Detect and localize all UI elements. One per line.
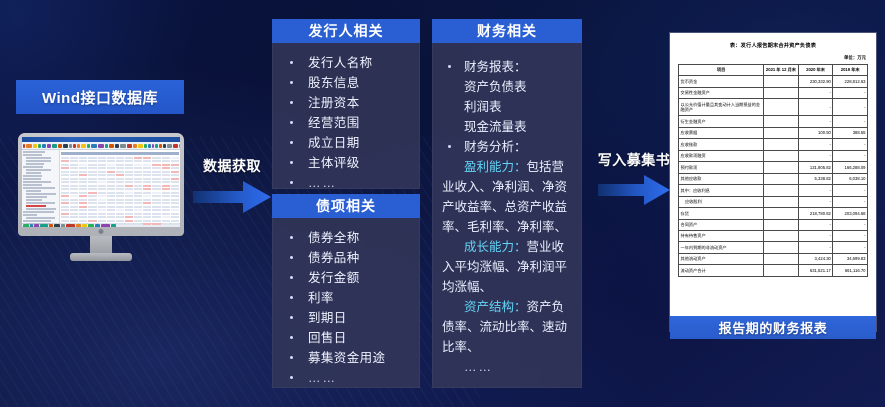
table-cell-value: 388.55	[833, 127, 868, 138]
grid-cell	[79, 181, 87, 183]
arrow-data-fetch: 数据获取	[186, 156, 278, 214]
table-cell-label: 以公允价值计量且其变动计入当期损益的金融资产	[679, 99, 764, 116]
grid-cell	[98, 216, 106, 218]
grid-cell	[152, 199, 160, 201]
table-cell-value	[764, 265, 799, 276]
table-cell-value	[764, 185, 799, 196]
statusbar-chip	[76, 224, 81, 227]
tree-row	[23, 154, 42, 156]
grid-cell	[134, 206, 142, 208]
grid-row	[61, 185, 179, 187]
grid-cell	[152, 174, 160, 176]
statusbar-chip	[34, 224, 39, 227]
table-cell-label: 一年内到期的非流动资产	[679, 242, 764, 253]
grid-cell	[162, 216, 170, 218]
grid-cell	[152, 157, 160, 159]
tree-row	[26, 172, 41, 174]
statusbar-chip	[88, 224, 94, 227]
ribbon-chip	[69, 144, 72, 148]
grid-cell	[98, 199, 106, 201]
table-cell-label: 应收账款	[679, 139, 764, 150]
ribbon-chip	[33, 144, 37, 148]
grid-cell	[134, 188, 142, 190]
grid-cell	[134, 174, 142, 176]
grid-cell	[70, 202, 78, 204]
tree-row	[23, 178, 41, 180]
ribbon-chip	[81, 144, 86, 148]
issuer-item: 注册资本	[278, 93, 414, 113]
table-cell-value	[764, 173, 799, 184]
tree-row	[26, 217, 55, 219]
grid-cell	[143, 206, 151, 208]
grid-cell	[70, 209, 78, 211]
grid-cell	[79, 178, 87, 180]
grid-cell	[125, 216, 133, 218]
grid-row	[61, 206, 179, 208]
table-cell-value: 631,521.17	[798, 265, 833, 276]
grid-cell	[79, 160, 87, 162]
grid-cell	[162, 192, 170, 194]
table-cell-value: 34,699.83	[833, 253, 868, 264]
grid-cell	[125, 188, 133, 190]
grid-cell	[98, 202, 106, 204]
grid-cell	[125, 202, 133, 204]
issuer-item: 经营范围	[278, 113, 414, 133]
table-column-header: 2019 年末	[833, 65, 868, 76]
grid-cell	[70, 206, 78, 208]
tree-row	[26, 160, 51, 162]
ribbon-chip	[105, 144, 108, 148]
panel-bond: 债项相关 债券全称债券品种发行金额利率到期日回售日募集资金用途……	[272, 194, 420, 388]
table-cell-value: 6,038.10	[833, 173, 868, 184]
table-cell-value: -	[798, 231, 833, 242]
document-title: 表：发行人报告期末合并资产负债表	[678, 42, 868, 49]
grid-cell	[70, 171, 78, 173]
grid-cell	[171, 199, 179, 201]
ribbon-chip	[38, 144, 41, 148]
grid-cell	[152, 185, 160, 187]
grid-cell	[152, 171, 160, 173]
ribbon-chip	[87, 144, 90, 148]
issuer-item: 发行人名称	[278, 53, 414, 73]
table-cell-value: -	[798, 196, 833, 207]
finance-statements-label: 财务报表：	[438, 57, 576, 77]
spreadsheet-grid	[60, 150, 180, 223]
grid-cell	[162, 195, 170, 197]
grid-cell	[125, 220, 133, 222]
table-row: 应收账款--	[679, 139, 868, 150]
table-cell-value: -	[798, 116, 833, 127]
grid-cell	[152, 227, 160, 228]
grid-cell	[143, 160, 151, 162]
balance-sheet-table: 项目2021 年 12 月末2020 年末2019 年末 货币资金230,332…	[678, 64, 868, 277]
grid-cell	[98, 220, 106, 222]
grid-cell	[134, 181, 142, 183]
statusbar-chip	[61, 224, 65, 227]
tree-row	[26, 205, 46, 207]
grid-cell	[162, 178, 170, 180]
grid-cell	[61, 171, 69, 173]
grid-cell	[134, 209, 142, 211]
grid-cell	[98, 209, 106, 211]
grid-cell	[107, 164, 115, 166]
grid-row	[61, 181, 179, 183]
finance-analysis-label: 财务分析：	[438, 137, 576, 157]
tree-row	[23, 187, 55, 189]
grid-cell	[79, 195, 87, 197]
bond-item: 到期日	[278, 308, 414, 328]
ribbon-chip	[77, 144, 80, 148]
grid-cell	[70, 160, 78, 162]
ribbon-chip	[26, 144, 32, 148]
panel-issuer: 发行人相关 发行人名称股东信息注册资本经营范围成立日期主体评级……	[272, 19, 420, 189]
grid-cell	[79, 199, 87, 201]
grid-cell	[88, 220, 96, 222]
table-cell-value	[764, 76, 799, 87]
table-cell-value: -	[798, 139, 833, 150]
slide-canvas: Wind接口数据库 数据获取	[0, 0, 885, 407]
table-cell-value: -	[833, 87, 868, 98]
grid-cell	[162, 171, 170, 173]
grid-cell	[61, 195, 69, 197]
grid-cell	[143, 164, 151, 166]
table-row: 衍生金融资产--	[679, 116, 868, 127]
grid-cell	[143, 216, 151, 218]
table-row: 货币资金230,332.90228,812.63	[679, 76, 868, 87]
grid-cell	[88, 213, 96, 215]
grid-cell	[107, 167, 115, 169]
statusbar-chip	[40, 224, 48, 227]
grid-cell	[152, 164, 160, 166]
grid-cell	[61, 202, 69, 204]
grid-cell	[107, 181, 115, 183]
grid-cell	[88, 188, 96, 190]
table-column-header: 2020 年末	[798, 65, 833, 76]
grid-cell	[116, 160, 124, 162]
grid-cell	[79, 188, 87, 190]
table-row: 存货218,780.82203,094.68	[679, 208, 868, 219]
statusbar-chip	[30, 224, 33, 227]
monitor-bezel	[18, 133, 184, 236]
table-row: 应收股利--	[679, 196, 868, 207]
table-column-header: 2021 年 12 月末	[764, 65, 799, 76]
issuer-item-list: 发行人名称股东信息注册资本经营范围成立日期主体评级……	[278, 53, 414, 193]
table-cell-value	[764, 116, 799, 127]
grid-row	[61, 171, 179, 173]
grid-cell	[143, 171, 151, 173]
grid-cell	[107, 192, 115, 194]
grid-cell	[171, 227, 179, 228]
finance-analysis-item: 成长能力：营业收入平均涨幅、净利润平均涨幅、	[438, 237, 576, 297]
table-cell-label: 货币资金	[679, 76, 764, 87]
arrow-data-fetch-label: 数据获取	[186, 156, 278, 176]
ribbon-chip	[167, 144, 172, 148]
grid-cell	[116, 227, 124, 228]
grid-cell	[171, 188, 179, 190]
grid-header	[61, 152, 179, 155]
table-column-header: 项目	[679, 65, 764, 76]
finance-statement-item: 现金流量表	[438, 117, 576, 137]
panel-bond-body: 债券全称债券品种发行金额利率到期日回售日募集资金用途……	[272, 218, 420, 396]
tree-row	[23, 175, 42, 177]
table-row: 应收票据100.50388.55	[679, 127, 868, 138]
grid-cell	[88, 164, 96, 166]
grid-cell	[143, 220, 151, 222]
balance-sheet-document: 表：发行人报告期末合并资产负债表 单位：万元 项目2021 年 12 月末202…	[670, 33, 876, 331]
ribbon-chip	[152, 144, 154, 148]
grid-cell	[162, 167, 170, 169]
grid-cell	[125, 178, 133, 180]
grid-cell	[98, 178, 106, 180]
grid-cell	[143, 192, 151, 194]
finance-analysis-key: 资产结构：	[464, 300, 527, 314]
grid-cell	[125, 174, 133, 176]
grid-row	[61, 192, 179, 194]
tree-row	[26, 208, 56, 210]
grid-cell	[116, 185, 124, 187]
grid-cell	[61, 199, 69, 201]
grid-cell	[134, 213, 142, 215]
table-cell-value: 661,116.70	[833, 265, 868, 276]
ribbon-chip	[179, 144, 180, 148]
issuer-item: ……	[278, 173, 414, 193]
table-cell-value: -	[833, 196, 868, 207]
grid-cell	[88, 209, 96, 211]
grid-cell	[171, 174, 179, 176]
grid-cell	[116, 157, 124, 159]
table-row: 持有待售资产--	[679, 231, 868, 242]
grid-cell	[107, 195, 115, 197]
monitor-screen	[22, 137, 180, 227]
grid-row	[61, 220, 179, 222]
monitor-base	[70, 253, 132, 261]
finance-analysis-item: 资产结构：资产负债率、流动比率、速动比率、	[438, 297, 576, 357]
ribbon-chip	[127, 144, 132, 148]
table-cell-value: 166,288.09	[833, 162, 868, 173]
grid-cell	[171, 202, 179, 204]
grid-row	[61, 157, 179, 159]
grid-cell	[79, 192, 87, 194]
grid-cell	[152, 178, 160, 180]
grid-cell	[143, 167, 151, 169]
grid-cell	[88, 195, 96, 197]
grid-cell	[125, 213, 133, 215]
table-cell-value: -	[833, 219, 868, 230]
document-caption: 报告期的财务报表	[670, 316, 876, 339]
grid-cell	[107, 160, 115, 162]
grid-cell	[143, 209, 151, 211]
grid-cell	[116, 195, 124, 197]
grid-cell	[134, 164, 142, 166]
bond-item: 回售日	[278, 328, 414, 348]
grid-cell	[70, 216, 78, 218]
table-cell-value	[764, 99, 799, 116]
panel-issuer-body: 发行人名称股东信息注册资本经营范围成立日期主体评级……	[272, 43, 420, 201]
grid-cell	[88, 206, 96, 208]
grid-cell	[152, 206, 160, 208]
grid-cell	[107, 174, 115, 176]
statusbar-chip	[23, 224, 29, 227]
arrow-write-prospectus-label: 写入募集书	[592, 150, 676, 170]
table-cell-value: -	[798, 242, 833, 253]
grid-cell	[98, 157, 106, 159]
grid-cell	[70, 199, 78, 201]
ribbon-chip	[173, 144, 178, 148]
grid-cell	[171, 181, 179, 183]
grid-cell	[125, 199, 133, 201]
table-cell-value	[764, 208, 799, 219]
grid-cell	[143, 157, 151, 159]
grid-cell	[70, 178, 78, 180]
grid-cell	[152, 167, 160, 169]
grid-cell	[152, 223, 160, 225]
grid-cell	[79, 171, 87, 173]
grid-cell	[107, 157, 115, 159]
grid-row	[61, 216, 179, 218]
ribbon-chip	[144, 144, 147, 148]
table-cell-label: 应收款项融资	[679, 150, 764, 161]
tree-row	[26, 169, 51, 171]
grid-cell	[61, 216, 69, 218]
statusbar-chip	[82, 224, 87, 227]
grid-cell	[79, 202, 87, 204]
grid-cell	[88, 216, 96, 218]
table-cell-value: -	[833, 242, 868, 253]
grid-cell	[116, 164, 124, 166]
table-cell-value	[764, 253, 799, 264]
grid-cell	[70, 192, 78, 194]
ribbon-chip	[98, 144, 104, 148]
grid-cell	[152, 220, 160, 222]
grid-cell	[143, 178, 151, 180]
grid-cell	[152, 195, 160, 197]
table-cell-value	[764, 127, 799, 138]
grid-cell	[61, 178, 69, 180]
grid-row	[61, 167, 179, 169]
grid-cell	[88, 167, 96, 169]
grid-cell	[88, 174, 96, 176]
grid-cell	[88, 160, 96, 162]
wind-database-badge: Wind接口数据库	[16, 80, 184, 114]
grid-row	[61, 209, 179, 211]
grid-cell	[171, 160, 179, 162]
grid-cell	[107, 178, 115, 180]
ribbon-chip	[163, 144, 166, 148]
bond-item: 债券品种	[278, 248, 414, 268]
grid-cell	[162, 213, 170, 215]
table-cell-value: -	[833, 99, 868, 116]
statusbar-chip	[95, 224, 100, 227]
grid-cell	[125, 209, 133, 211]
grid-cell	[79, 206, 87, 208]
grid-cell	[125, 206, 133, 208]
finance-analysis-list: 盈利能力：包括营业收入、净利润、净资产收益率、总资产收益率、毛利率、净利率、成长…	[438, 157, 576, 357]
finance-analysis-key: 成长能力：	[464, 240, 527, 254]
table-cell-value: -	[833, 150, 868, 161]
grid-cell	[171, 178, 179, 180]
grid-cell	[70, 188, 78, 190]
grid-cell	[98, 181, 106, 183]
grid-cell	[152, 213, 160, 215]
grid-cell	[70, 174, 78, 176]
bond-item: 利率	[278, 288, 414, 308]
table-cell-label: 合同资产	[679, 219, 764, 230]
grid-cell	[125, 171, 133, 173]
grid-cell	[70, 185, 78, 187]
table-cell-value: -	[798, 185, 833, 196]
grid-cell	[79, 220, 87, 222]
finance-analysis-item: 盈利能力：包括营业收入、净利润、净资产收益率、总资产收益率、毛利率、净利率、	[438, 157, 576, 237]
issuer-item: 股东信息	[278, 73, 414, 93]
table-cell-label: 流动资产合计	[679, 265, 764, 276]
grid-cell	[134, 157, 142, 159]
monitor-power-indicator	[99, 229, 104, 234]
grid-cell	[116, 213, 124, 215]
grid-row	[61, 199, 179, 201]
table-cell-value	[764, 87, 799, 98]
grid-cell	[61, 206, 69, 208]
issuer-item: 主体评级	[278, 153, 414, 173]
grid-cell	[61, 164, 69, 166]
grid-row	[61, 174, 179, 176]
tree-row	[26, 163, 44, 165]
table-row: 预付款项131,805.82166,288.09	[679, 162, 868, 173]
bond-item: 发行金额	[278, 268, 414, 288]
table-cell-value: -	[798, 99, 833, 116]
grid-cell	[171, 164, 179, 166]
table-cell-value: -	[833, 139, 868, 150]
panel-issuer-title: 发行人相关	[272, 19, 420, 43]
grid-cell	[116, 216, 124, 218]
panel-bond-title: 债项相关	[272, 194, 420, 218]
table-cell-value: -	[798, 219, 833, 230]
finance-statement-item: 资产负债表	[438, 77, 576, 97]
grid-cell	[134, 220, 142, 222]
grid-cell	[79, 185, 87, 187]
table-cell-value	[764, 162, 799, 173]
grid-cell	[79, 213, 87, 215]
grid-cell	[134, 185, 142, 187]
bond-item: 债券全称	[278, 228, 414, 248]
table-row: 其他应收款5,338.826,038.10	[679, 173, 868, 184]
grid-cell	[70, 164, 78, 166]
ribbon-chip	[109, 144, 114, 148]
grid-cell	[61, 174, 69, 176]
tree-row	[23, 184, 42, 186]
ribbon-chip	[52, 144, 57, 148]
table-cell-value: -	[833, 231, 868, 242]
grid-cell	[107, 209, 115, 211]
document-unit-label: 单位：万元	[678, 55, 868, 61]
grid-cell	[143, 185, 151, 187]
grid-cell	[171, 157, 179, 159]
grid-cell	[61, 220, 69, 222]
grid-cell	[143, 213, 151, 215]
panel-finance-body: 财务报表： 资产负债表利润表现金流量表 财务分析： 盈利能力：包括营业收入、净利…	[432, 43, 582, 385]
grid-cell	[162, 188, 170, 190]
table-cell-value: -	[833, 116, 868, 127]
grid-cell	[152, 209, 160, 211]
grid-cell	[171, 209, 179, 211]
grid-cell	[61, 192, 69, 194]
ribbon-chip	[115, 144, 119, 148]
grid-cell	[107, 213, 115, 215]
table-cell-value: 131,805.82	[798, 162, 833, 173]
grid-cell	[116, 181, 124, 183]
tree-row	[23, 220, 51, 222]
grid-cell	[134, 160, 142, 162]
grid-cell	[98, 164, 106, 166]
